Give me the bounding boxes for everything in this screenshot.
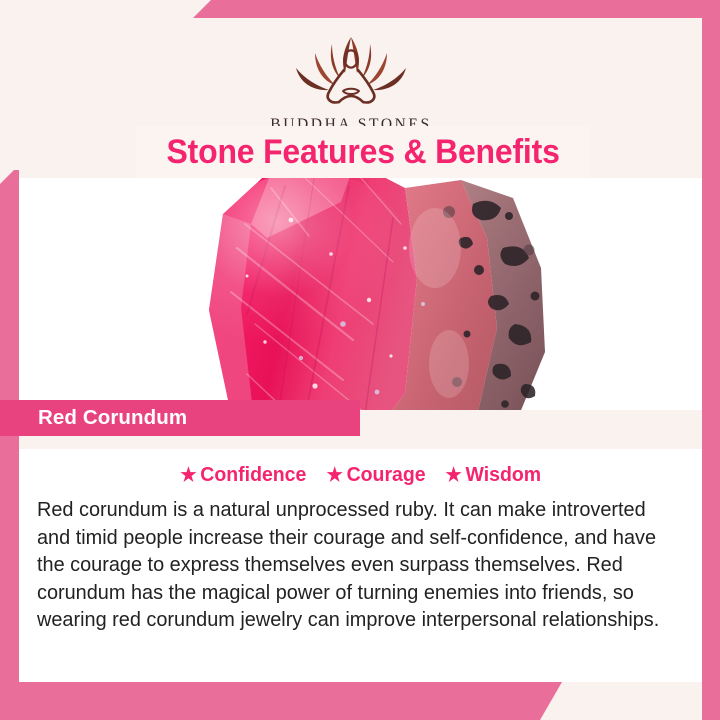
- lotus-meditation-icon: [277, 28, 425, 114]
- frame-top-band: [193, 0, 720, 18]
- benefit-item: ★Wisdom: [446, 463, 542, 487]
- stone-photo: [19, 170, 702, 410]
- star-icon: ★: [181, 465, 197, 486]
- page-title-text: Stone Features & Benefits: [166, 133, 559, 172]
- brand-logo: BUDDHA STONES: [0, 28, 702, 134]
- benefit-label: Wisdom: [466, 463, 542, 486]
- page-title: Stone Features & Benefits: [136, 126, 590, 178]
- stone-name-badge: Red Corundum: [0, 400, 360, 436]
- benefit-item: ★Confidence: [181, 463, 307, 487]
- stone-name-label: Red Corundum: [38, 406, 187, 430]
- label-divider-strip: [19, 436, 702, 449]
- stone-description: Red corundum is a natural unprocessed ru…: [37, 496, 665, 634]
- frame-right-edge: [702, 0, 720, 720]
- benefit-label: Courage: [347, 463, 426, 486]
- benefit-item: ★Courage: [327, 463, 426, 487]
- content-panel: ★Confidence ★Courage ★Wisdom Red corundu…: [19, 449, 702, 682]
- frame-bottom-band: [0, 682, 562, 720]
- star-icon: ★: [446, 465, 462, 486]
- star-icon: ★: [327, 465, 343, 486]
- red-corundum-crystal-illustration: [105, 170, 595, 410]
- stone-info-card: BUDDHA STONES: [0, 0, 720, 720]
- benefit-label: Confidence: [201, 463, 307, 486]
- benefits-list: ★Confidence ★Courage ★Wisdom: [19, 463, 702, 487]
